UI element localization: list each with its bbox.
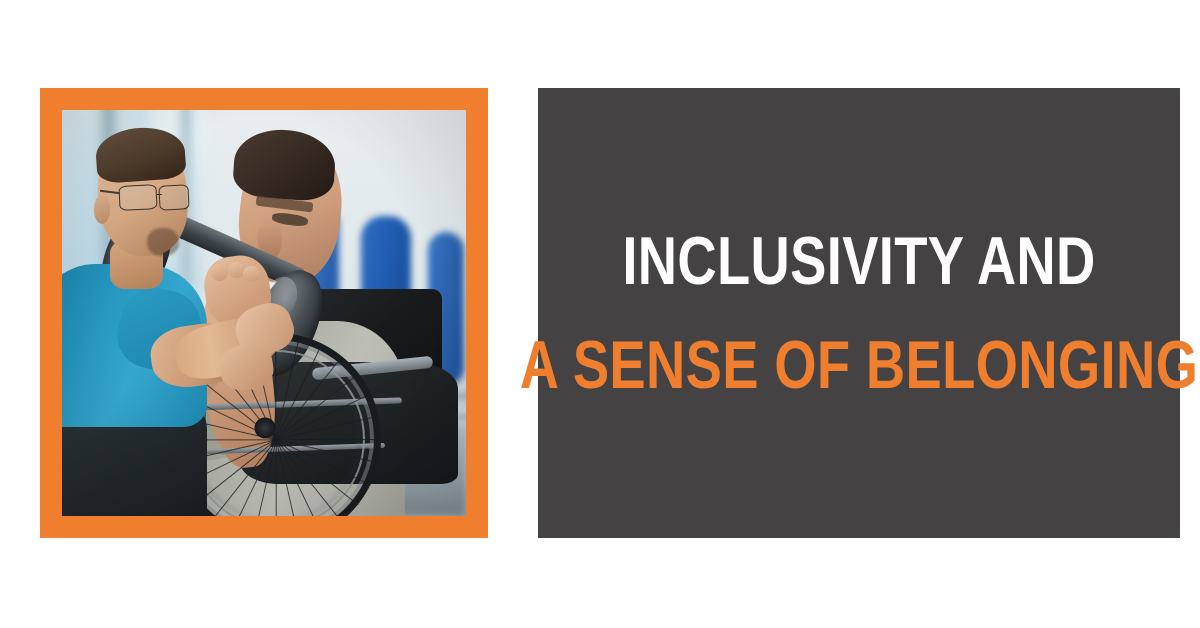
headline-line-1: INCLUSIVITY AND — [520, 227, 1198, 295]
wheelchair-hub — [254, 418, 275, 439]
headline: INCLUSIVITY AND A SENSE OF BELONGING — [435, 227, 1200, 399]
photo-frame — [40, 88, 488, 538]
client-knuckle-1 — [211, 264, 228, 280]
trainer-glasses-lens-right — [158, 184, 190, 211]
gym-training-photo — [62, 110, 466, 516]
client-knuckle-2 — [228, 262, 245, 278]
headline-line-2: A SENSE OF BELONGING — [520, 331, 1198, 399]
trainer-glasses-lens-left — [118, 184, 158, 211]
banner-graphic: INCLUSIVITY AND A SENSE OF BELONGING — [0, 0, 1200, 628]
client-knuckle-3 — [243, 266, 260, 282]
headline-panel: INCLUSIVITY AND A SENSE OF BELONGING — [538, 88, 1180, 538]
trainer-glasses-bridge — [157, 194, 163, 195]
trainer-beard — [147, 228, 179, 256]
